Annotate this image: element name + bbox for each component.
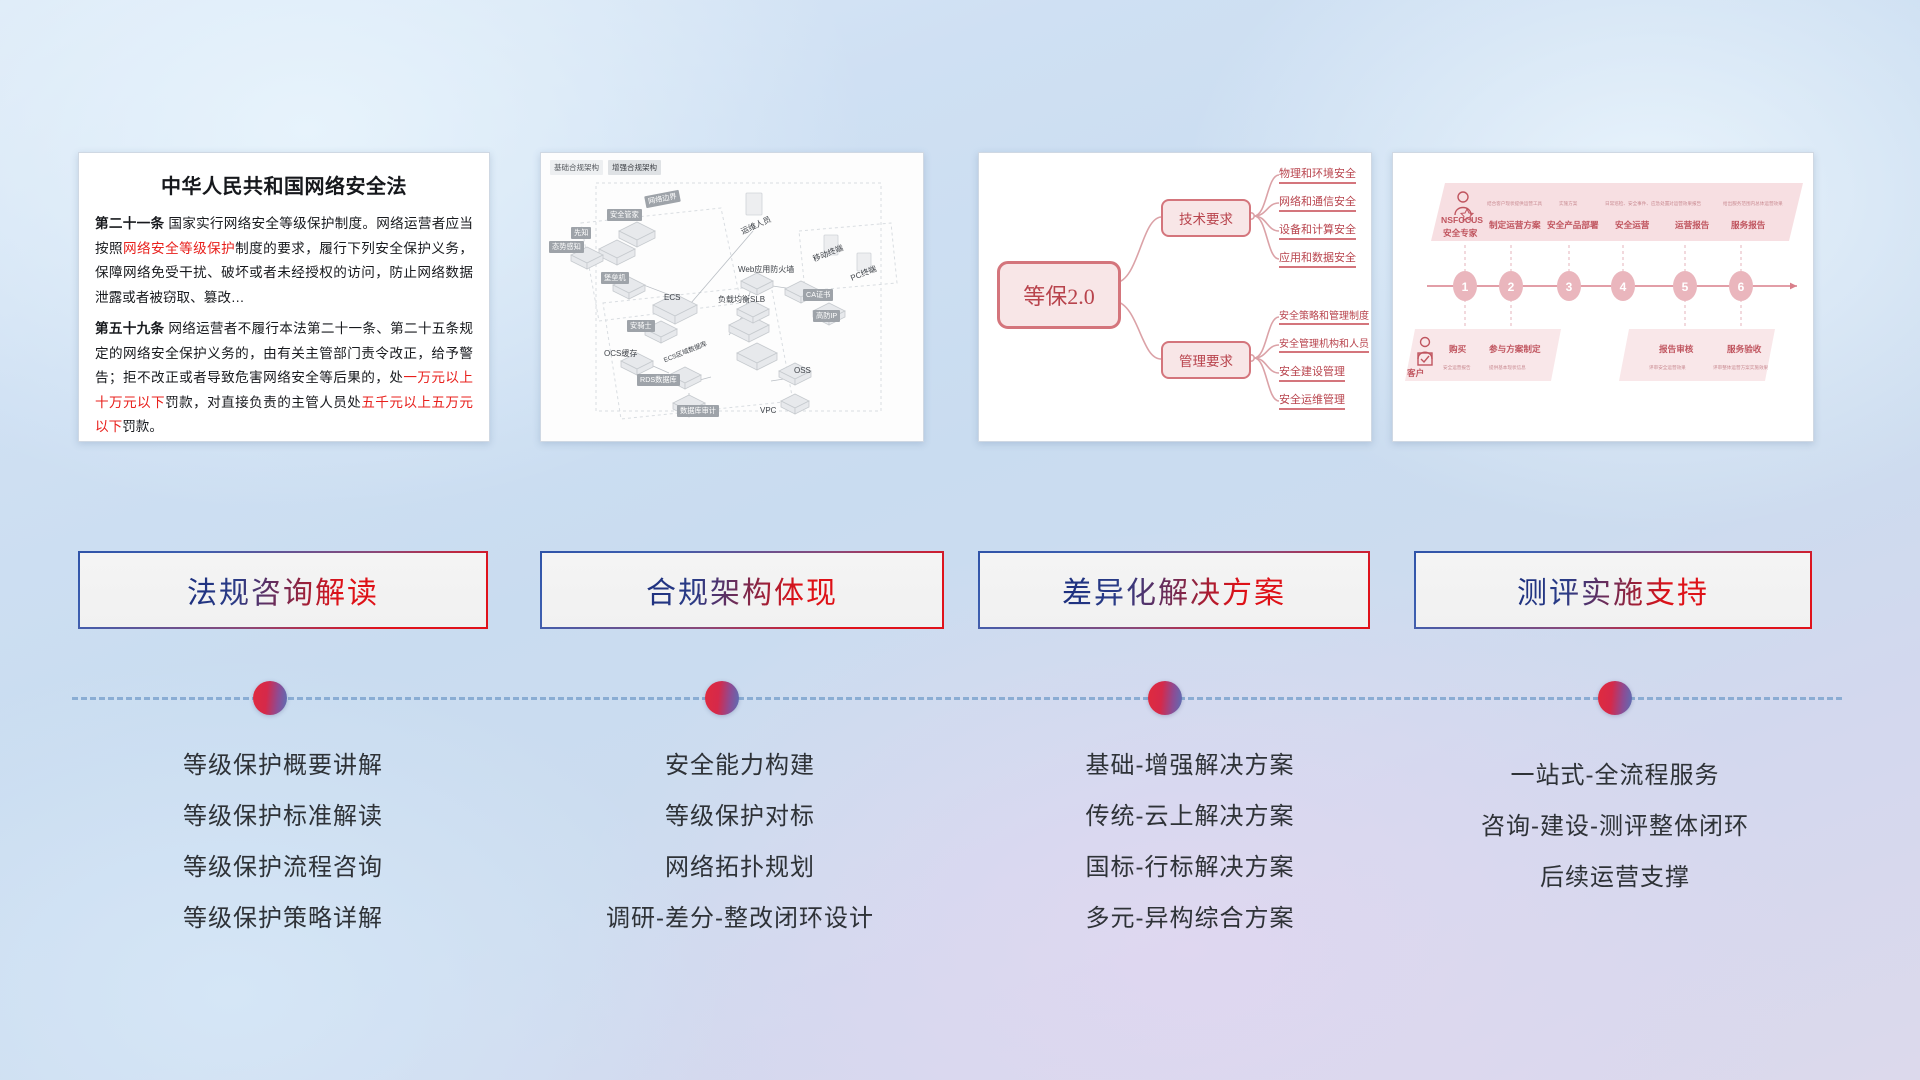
- timeline-dot-3[interactable]: [1148, 681, 1182, 715]
- list-item: 安全能力构建: [520, 740, 960, 791]
- list-item: 后续运营支撑: [1400, 852, 1830, 903]
- list-item: 多元-异构综合方案: [980, 893, 1400, 944]
- list-item: 一站式-全流程服务: [1400, 750, 1830, 801]
- list-item: 网络拓扑规划: [520, 842, 960, 893]
- timeline-dot-2[interactable]: [705, 681, 739, 715]
- list-item: 基础-增强解决方案: [980, 740, 1400, 791]
- list-item: 等级保护概要讲解: [78, 740, 488, 791]
- slide-canvas: 中华人民共和国网络安全法 第二十一条 国家实行网络安全等级保护制度。网络运营者应…: [0, 0, 1920, 1080]
- title-box-assessment-support[interactable]: 测评实施支持: [1414, 551, 1812, 629]
- feature-list-1: 等级保护概要讲解 等级保护标准解读 等级保护流程咨询 等级保护策略详解: [78, 740, 488, 944]
- title-box-compliance-architecture[interactable]: 合规架构体现: [540, 551, 944, 629]
- title-text-4: 测评实施支持: [1517, 568, 1709, 612]
- timeline-dot-1[interactable]: [253, 681, 287, 715]
- title-box-differentiated-solution[interactable]: 差异化解决方案: [978, 551, 1370, 629]
- title-box-regulation-consulting[interactable]: 法规咨询解读: [78, 551, 488, 629]
- list-item: 国标-行标解决方案: [980, 842, 1400, 893]
- list-item: 调研-差分-整改闭环设计: [520, 893, 960, 944]
- title-text-1: 法规咨询解读: [187, 568, 379, 612]
- feature-list-2: 安全能力构建 等级保护对标 网络拓扑规划 调研-差分-整改闭环设计: [520, 740, 960, 944]
- list-item: 等级保护对标: [520, 791, 960, 842]
- title-text-3: 差异化解决方案: [1062, 568, 1286, 612]
- list-item: 等级保护流程咨询: [78, 842, 488, 893]
- title-text-2: 合规架构体现: [646, 568, 838, 612]
- list-item: 等级保护标准解读: [78, 791, 488, 842]
- timeline-dashed-line: [72, 697, 1842, 700]
- timeline-dot-4[interactable]: [1598, 681, 1632, 715]
- list-item: 传统-云上解决方案: [980, 791, 1400, 842]
- feature-list-3: 基础-增强解决方案 传统-云上解决方案 国标-行标解决方案 多元-异构综合方案: [980, 740, 1400, 944]
- list-item: 咨询-建设-测评整体闭环: [1400, 801, 1830, 852]
- list-item: 等级保护策略详解: [78, 893, 488, 944]
- feature-list-4: 一站式-全流程服务 咨询-建设-测评整体闭环 后续运营支撑: [1400, 750, 1830, 903]
